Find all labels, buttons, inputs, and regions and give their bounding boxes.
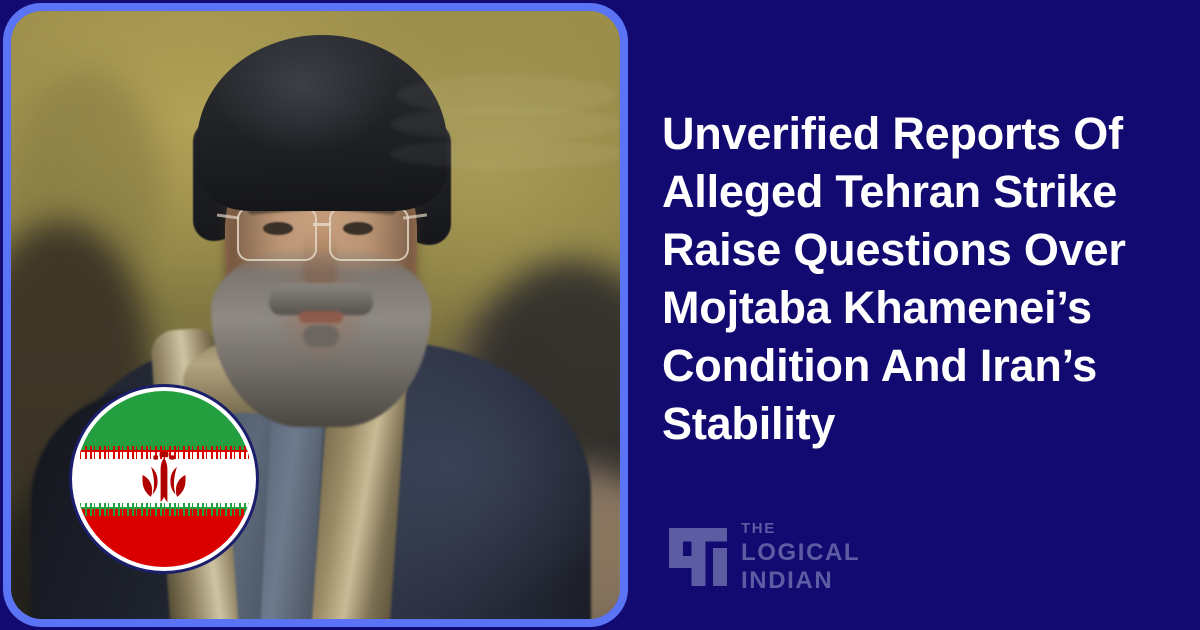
brand-line-logical: LOGICAL — [741, 541, 860, 565]
headline-text: Unverified Reports Of Alleged Tehran Str… — [662, 105, 1162, 453]
brand-wordmark: THE LOGICAL INDIAN — [741, 521, 860, 593]
turban-wrap-fold — [391, 107, 620, 141]
flag-stripe-red — [76, 508, 252, 567]
iran-emblem-icon — [131, 448, 197, 510]
iran-flag-circle-icon — [76, 391, 252, 567]
black-turban — [197, 35, 447, 211]
photo-frame — [3, 3, 628, 627]
social-share-card: Unverified Reports Of Alleged Tehran Str… — [0, 0, 1200, 630]
soul-patch — [303, 325, 339, 347]
turban-wrap-fold — [389, 139, 620, 169]
eyeglass-lens-left — [237, 207, 317, 261]
brand-logo[interactable]: THE LOGICAL INDIAN — [669, 521, 860, 593]
brand-line-the: THE — [741, 521, 860, 536]
flag-stripe-green — [76, 391, 252, 450]
brand-line-indian: INDIAN — [741, 569, 860, 593]
eyeglass-lens-right — [329, 207, 409, 261]
lips — [299, 311, 343, 323]
eyeglass-bridge — [313, 223, 331, 226]
logical-indian-logo-mark-icon — [669, 528, 727, 586]
